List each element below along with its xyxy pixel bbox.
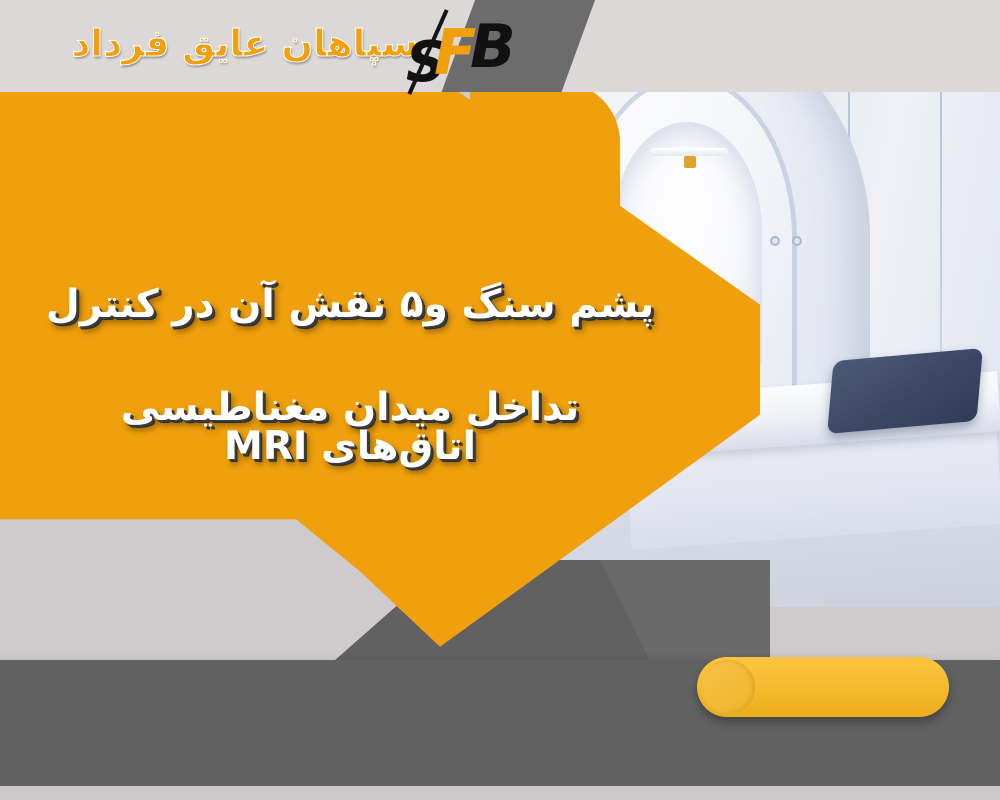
bore-badge-icon <box>684 156 696 168</box>
sfb-monogram-icon: S F B <box>404 10 534 88</box>
brand-name-text: سپاهان عایق فرداد <box>71 22 418 65</box>
poster-canvas: پشم سنگ و۵ نقش آن در کنترل تداخل میدان م… <box>0 0 1000 800</box>
patient-pillow <box>827 348 983 434</box>
monogram-letter-b: B <box>470 12 516 82</box>
bottom-strip <box>0 786 1000 800</box>
brand-logo[interactable]: سپاهان عایق فرداد S F B <box>18 8 538 86</box>
toggle-pill-button[interactable] <box>697 657 949 717</box>
scanner-knob-a <box>770 236 780 246</box>
bore-lamp <box>650 148 728 156</box>
scanner-knob-b <box>792 236 802 246</box>
toggle-pill-knob[interactable] <box>701 660 755 714</box>
